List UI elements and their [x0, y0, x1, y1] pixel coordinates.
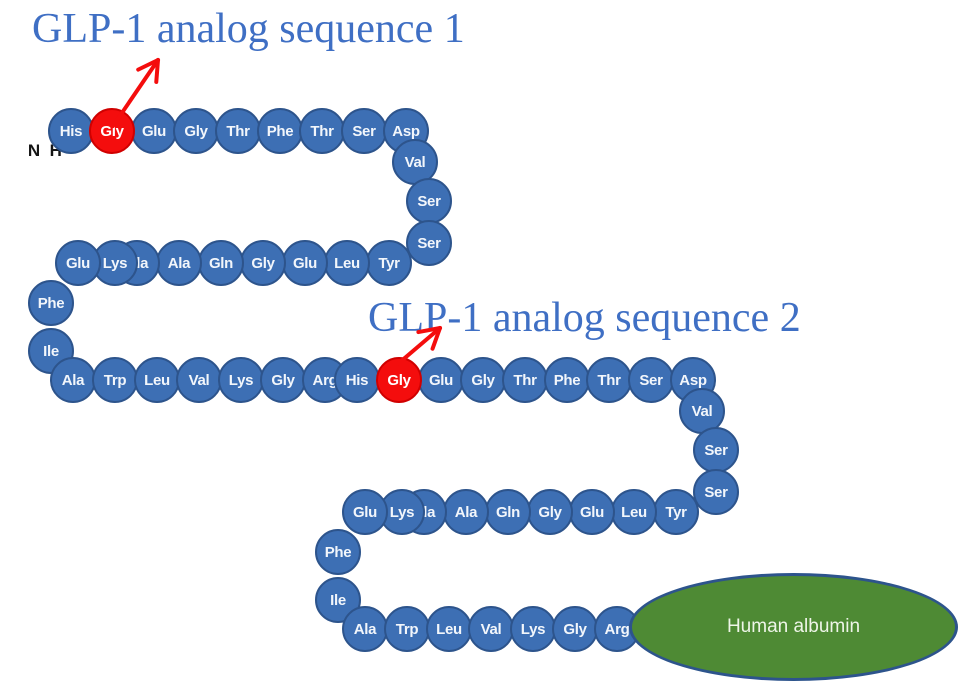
residue-label: Thr [310, 123, 333, 140]
residue-label: Gly [563, 621, 586, 638]
residue-label: His [346, 372, 368, 389]
residue-gly-3: Gly [173, 108, 219, 154]
residue-ser-11: Ser [406, 220, 452, 266]
residue-val-56: Val [468, 606, 514, 652]
residue-ala-17: Ala [156, 240, 202, 286]
residue-label: Thr [513, 372, 536, 389]
residue-label: Leu [144, 372, 170, 389]
residue-lys-57: Lys [510, 606, 556, 652]
residue-label: Phe [554, 372, 581, 389]
residue-phe-35: Phe [544, 357, 590, 403]
residue-glu-14: Glu [282, 240, 328, 286]
residue-label: Glu [293, 255, 317, 272]
n-terminus-n: N [28, 141, 40, 160]
residue-label: Phe [267, 123, 294, 140]
residue-trp-24: Trp [92, 357, 138, 403]
residue-label: Ser [417, 235, 440, 252]
residue-ala-47: Ala [443, 489, 489, 535]
residue-glu-2: Glu [131, 108, 177, 154]
residue-thr-4: Thr [215, 108, 261, 154]
residue-label: Gly [538, 504, 561, 521]
residue-tyr-42: Tyr [653, 489, 699, 535]
residue-gly-1: Gly [89, 108, 135, 154]
residue-label: Lys [390, 504, 414, 521]
residue-label: Ala [455, 504, 477, 521]
residue-his-0: His [48, 108, 94, 154]
residue-label: Asp [392, 123, 419, 140]
residue-label: Val [405, 154, 426, 171]
title-glp1-sequence-2: GLP-1 analog sequence 2 [368, 297, 801, 339]
residue-label: Gln [496, 504, 520, 521]
residue-glu-44: Glu [569, 489, 615, 535]
residue-label: Gln [209, 255, 233, 272]
residue-label: Glu [580, 504, 604, 521]
residue-label: Arg [605, 621, 630, 638]
residue-gln-46: Gln [485, 489, 531, 535]
residue-label: Gly [271, 372, 294, 389]
residue-ser-41: Ser [693, 469, 739, 515]
residue-label: Ala [62, 372, 84, 389]
residue-label: Ser [352, 123, 375, 140]
residue-ala-23: Ala [50, 357, 96, 403]
residue-label: Thr [597, 372, 620, 389]
residue-label: Tyr [665, 504, 686, 521]
residue-leu-43: Leu [611, 489, 657, 535]
residue-trp-54: Trp [384, 606, 430, 652]
human-albumin-label: Human albumin [727, 616, 860, 638]
residue-lys-27: Lys [218, 357, 264, 403]
residue-gln-16: Gln [198, 240, 244, 286]
residue-tyr-12: Tyr [366, 240, 412, 286]
residue-thr-6: Thr [299, 108, 345, 154]
residue-label: Trp [396, 621, 418, 638]
residue-ser-37: Ser [628, 357, 674, 403]
residue-leu-25: Leu [134, 357, 180, 403]
residue-label: Lys [103, 255, 127, 272]
title-glp1-sequence-1: GLP-1 analog sequence 1 [32, 8, 465, 50]
residue-label: Lys [521, 621, 545, 638]
residue-label: Gly [100, 123, 123, 140]
figure-canvas: GLP-1 analog sequence 1 GLP-1 analog seq… [0, 0, 976, 689]
residue-label: Ile [330, 592, 346, 609]
residue-gly-28: Gly [260, 357, 306, 403]
residue-label: Thr [226, 123, 249, 140]
residue-label: Glu [429, 372, 453, 389]
human-albumin-ellipse: Human albumin [629, 573, 958, 681]
residue-label: Gly [184, 123, 207, 140]
residue-label: Leu [436, 621, 462, 638]
residue-ala-53: Ala [342, 606, 388, 652]
residue-label: Ile [43, 343, 59, 360]
residue-label: His [60, 123, 82, 140]
residue-label: Leu [334, 255, 360, 272]
residue-thr-34: Thr [502, 357, 548, 403]
residue-label: Phe [325, 544, 352, 561]
residue-ser-7: Ser [341, 108, 387, 154]
residue-label: Glu [142, 123, 166, 140]
residue-label: Lys [229, 372, 253, 389]
residue-label: Ala [354, 621, 376, 638]
residue-gly-45: Gly [527, 489, 573, 535]
residue-label: Gly [251, 255, 274, 272]
residue-glu-32: Glu [418, 357, 464, 403]
residue-label: Tyr [378, 255, 399, 272]
residue-label: Phe [38, 295, 65, 312]
residue-label: Val [692, 403, 713, 420]
residue-glu-50: Glu [342, 489, 388, 535]
residue-his-30: His [334, 357, 380, 403]
residue-gly-31: Gly [376, 357, 422, 403]
residue-phe-51: Phe [315, 529, 361, 575]
residue-label: Gly [471, 372, 494, 389]
residue-label: Asp [679, 372, 706, 389]
residue-glu-20: Glu [55, 240, 101, 286]
residue-label: Ser [704, 442, 727, 459]
residue-label: Ser [704, 484, 727, 501]
residue-label: Val [189, 372, 210, 389]
residue-label: Ser [417, 193, 440, 210]
residue-gly-58: Gly [552, 606, 598, 652]
residue-phe-21: Phe [28, 280, 74, 326]
residue-leu-55: Leu [426, 606, 472, 652]
residue-val-26: Val [176, 357, 222, 403]
residue-label: Trp [104, 372, 126, 389]
residue-label: Ala [168, 255, 190, 272]
residue-label: Gly [387, 372, 410, 389]
residue-ser-10: Ser [406, 178, 452, 224]
residue-label: Leu [621, 504, 647, 521]
residue-gly-15: Gly [240, 240, 286, 286]
residue-label: Glu [66, 255, 90, 272]
residue-phe-5: Phe [257, 108, 303, 154]
residue-ser-40: Ser [693, 427, 739, 473]
residue-thr-36: Thr [586, 357, 632, 403]
residue-leu-13: Leu [324, 240, 370, 286]
residue-label: Glu [353, 504, 377, 521]
residue-label: Ser [639, 372, 662, 389]
residue-label: Val [481, 621, 502, 638]
residue-gly-33: Gly [460, 357, 506, 403]
